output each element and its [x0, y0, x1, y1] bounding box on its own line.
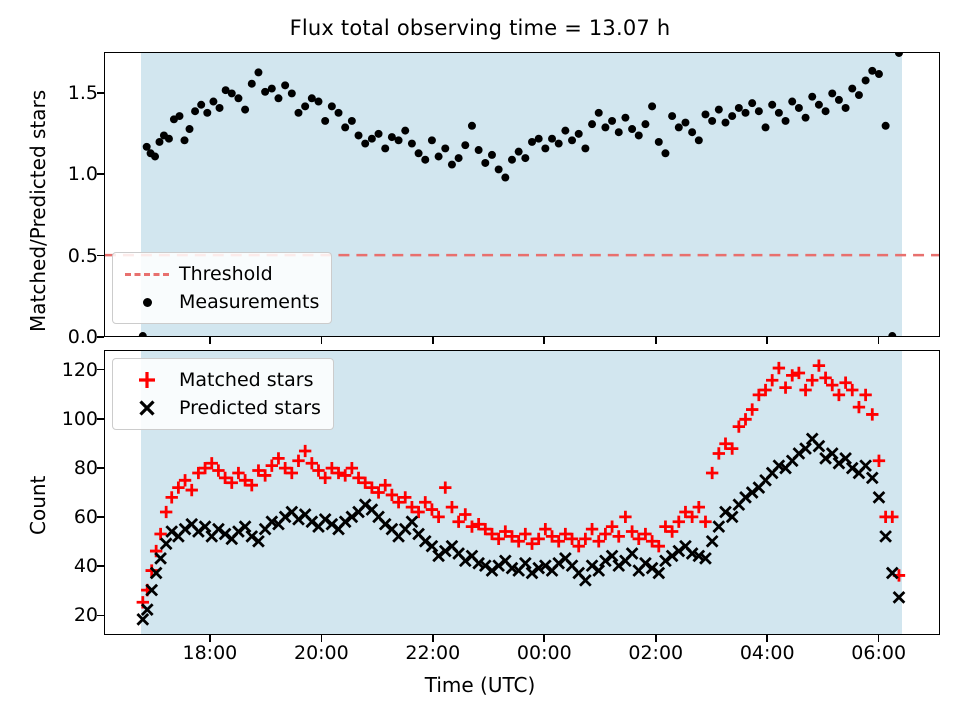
data-point	[521, 154, 529, 162]
data-point	[788, 98, 796, 106]
data-point	[839, 377, 851, 389]
data-point	[575, 130, 583, 138]
data-point	[775, 109, 783, 117]
data-point	[813, 359, 825, 371]
data-point	[519, 528, 531, 540]
x-tick-mark	[432, 337, 434, 344]
count-ytick: 100	[40, 408, 98, 430]
y-tick-mark	[97, 173, 104, 175]
data-point	[894, 592, 905, 603]
data-point	[421, 156, 429, 164]
data-point	[348, 117, 356, 125]
x-tick-mark	[543, 635, 545, 642]
data-point	[181, 136, 189, 144]
data-point	[176, 112, 184, 120]
data-point	[848, 85, 856, 93]
data-point	[254, 68, 262, 76]
data-point	[561, 127, 569, 135]
data-point	[312, 464, 324, 476]
data-point	[655, 138, 663, 146]
x-tick-mark	[878, 337, 880, 344]
data-point	[234, 94, 242, 102]
data-point	[253, 536, 264, 547]
data-point	[866, 408, 878, 420]
data-point	[814, 441, 825, 452]
x-tick-label: 06:00	[851, 642, 906, 664]
count-ytick: 120	[40, 359, 98, 381]
data-point	[539, 523, 551, 535]
data-point	[779, 381, 791, 393]
data-point	[200, 521, 211, 532]
data-point	[887, 568, 898, 579]
x-tick-mark	[878, 635, 880, 642]
data-point	[475, 146, 483, 154]
x-tick-label: 18:00	[183, 642, 238, 664]
data-point	[461, 141, 469, 149]
data-point	[688, 128, 696, 136]
data-point	[319, 472, 331, 484]
data-point	[580, 575, 591, 586]
data-point	[335, 109, 343, 117]
data-point	[339, 469, 351, 481]
y-tick-mark	[97, 255, 104, 257]
data-point	[274, 94, 282, 102]
data-point	[209, 98, 217, 106]
x-tick-mark	[655, 337, 657, 344]
data-point	[727, 512, 738, 523]
data-point	[713, 521, 724, 532]
data-point	[515, 148, 523, 156]
data-point	[151, 153, 159, 161]
count-legend: Matched stars Predicted stars	[112, 358, 334, 430]
data-point	[375, 130, 383, 138]
data-point	[733, 420, 745, 432]
data-point	[191, 107, 199, 115]
data-point	[161, 538, 172, 549]
data-point	[154, 528, 166, 540]
page-title: Flux total observing time = 13.07 h	[0, 16, 960, 40]
series-predicted-stars	[137, 433, 904, 624]
data-point	[579, 533, 591, 545]
x-tick-mark	[655, 635, 657, 642]
data-point	[628, 125, 636, 133]
data-point	[606, 520, 618, 532]
data-point	[452, 516, 464, 528]
data-point	[435, 153, 443, 161]
data-point	[508, 156, 516, 164]
data-point	[822, 107, 830, 115]
data-point	[368, 135, 376, 143]
data-point	[715, 106, 723, 114]
data-point	[328, 102, 336, 110]
data-point	[793, 367, 805, 379]
legend-label: Measurements	[179, 291, 319, 313]
y-tick-mark	[97, 467, 104, 469]
x-tick-mark	[321, 337, 323, 344]
count-ytick: 20	[40, 604, 98, 626]
data-point	[581, 144, 589, 152]
data-point	[426, 503, 438, 515]
x-tick-label: 20:00	[294, 642, 349, 664]
data-point	[626, 525, 638, 537]
x-tick-mark	[543, 337, 545, 344]
count-ytick: 40	[40, 555, 98, 577]
data-point	[782, 117, 790, 125]
data-point	[601, 123, 609, 131]
data-point	[706, 467, 718, 479]
data-point	[155, 553, 166, 564]
y-tick-mark	[97, 516, 104, 518]
data-point	[593, 565, 604, 576]
data-point	[321, 117, 329, 125]
data-point	[862, 77, 870, 85]
data-point	[599, 528, 611, 540]
data-point	[615, 128, 623, 136]
y-tick-mark	[97, 92, 104, 94]
x-tick-mark	[766, 635, 768, 642]
data-point	[842, 104, 850, 112]
y-tick-mark	[97, 615, 104, 617]
data-point	[165, 135, 173, 143]
data-point	[593, 535, 605, 547]
data-point	[799, 384, 811, 396]
data-point	[172, 481, 184, 493]
x-tick-mark	[321, 635, 323, 642]
data-point	[501, 174, 509, 182]
legend-item-threshold: Threshold	[123, 260, 319, 288]
data-point	[535, 135, 543, 143]
data-point	[595, 109, 603, 117]
data-point	[415, 149, 423, 157]
legend-item-measurements: Measurements	[123, 288, 319, 316]
legend-item-matched-stars: Matched stars	[123, 366, 321, 394]
data-point	[428, 136, 436, 144]
data-point	[707, 536, 718, 547]
data-point	[520, 558, 531, 569]
data-point	[746, 403, 758, 415]
data-point	[766, 374, 778, 386]
plus-marker-icon	[123, 368, 171, 392]
x-tick-label: 00:00	[517, 642, 572, 664]
figure-root: Flux total observing time = 13.07 h 0.0 …	[0, 0, 960, 720]
data-point	[573, 540, 585, 552]
data-point	[186, 125, 194, 133]
data-point	[240, 521, 251, 532]
data-point	[800, 443, 811, 454]
legend-label: Matched stars	[179, 369, 313, 391]
data-point	[272, 452, 284, 464]
data-point	[386, 489, 398, 501]
data-point	[819, 372, 831, 384]
data-point	[228, 89, 236, 97]
data-point	[197, 101, 205, 109]
data-point	[155, 138, 163, 146]
data-point	[139, 332, 147, 337]
data-point	[668, 112, 676, 120]
data-point	[419, 496, 431, 508]
data-point	[179, 474, 191, 486]
data-point	[248, 80, 256, 88]
data-point	[315, 98, 323, 106]
data-point	[773, 362, 785, 374]
data-point	[292, 455, 304, 467]
data-point	[407, 516, 418, 527]
data-point	[568, 136, 576, 144]
data-point	[608, 117, 616, 125]
data-point	[742, 109, 750, 117]
data-point	[853, 401, 865, 413]
data-point	[713, 447, 725, 459]
data-point	[203, 109, 211, 117]
data-point	[381, 144, 389, 152]
data-point	[379, 479, 391, 491]
data-point	[855, 91, 863, 99]
data-point	[675, 123, 683, 131]
data-point	[446, 501, 458, 513]
data-point	[627, 548, 638, 559]
data-point	[432, 511, 444, 523]
data-point	[815, 101, 823, 109]
data-point	[439, 481, 451, 493]
data-point	[355, 132, 363, 140]
data-point	[346, 462, 358, 474]
data-point	[294, 109, 302, 117]
data-point	[880, 531, 891, 542]
data-point	[693, 501, 705, 513]
data-point	[699, 516, 711, 528]
data-point	[739, 413, 751, 425]
data-point	[701, 110, 709, 118]
data-point	[886, 511, 898, 523]
data-point	[301, 102, 309, 110]
data-point	[441, 144, 449, 152]
data-point	[795, 104, 803, 112]
data-point	[846, 384, 858, 396]
data-point	[661, 149, 669, 157]
data-point	[681, 119, 689, 127]
data-point	[755, 107, 763, 115]
data-point	[212, 464, 224, 476]
data-point	[495, 165, 503, 173]
data-point	[840, 453, 851, 464]
data-point	[395, 136, 403, 144]
data-point	[160, 506, 172, 518]
data-point	[468, 122, 476, 130]
data-point	[768, 101, 776, 109]
data-point	[241, 106, 249, 114]
data-point	[216, 104, 224, 112]
data-point	[281, 81, 289, 89]
x-tick-label: 04:00	[740, 642, 795, 664]
data-point	[266, 460, 278, 472]
data-point	[341, 123, 349, 131]
data-point	[641, 120, 649, 128]
data-point	[488, 151, 496, 159]
data-point	[541, 144, 549, 152]
data-point	[735, 104, 743, 112]
x-tick-mark	[766, 337, 768, 344]
data-point	[166, 491, 178, 503]
data-point	[695, 136, 703, 144]
data-point	[588, 120, 596, 128]
x-tick-mark	[432, 635, 434, 642]
y-tick-mark	[97, 418, 104, 420]
data-point	[459, 508, 471, 520]
data-point	[232, 467, 244, 479]
x-tick-mark	[209, 337, 211, 344]
y-tick-mark	[97, 565, 104, 567]
data-point	[548, 135, 556, 143]
x-tick-mark	[209, 635, 211, 642]
data-point	[401, 127, 409, 135]
data-point	[728, 112, 736, 120]
data-point	[427, 541, 438, 552]
data-point	[762, 123, 770, 131]
data-point	[888, 332, 896, 337]
x-tick-label: 02:00	[628, 642, 683, 664]
x-tick-label: 22:00	[405, 642, 460, 664]
data-point	[828, 89, 836, 97]
data-point	[648, 102, 656, 110]
data-point	[827, 448, 838, 459]
data-point	[833, 389, 845, 401]
data-point	[786, 369, 798, 381]
count-axis-label: Count	[26, 476, 50, 535]
data-point	[882, 122, 890, 130]
data-point	[873, 455, 885, 467]
data-point	[859, 389, 871, 401]
data-point	[653, 568, 664, 579]
ratio-axis-label: Matched/Predicted stars	[26, 90, 50, 332]
y-tick-mark	[97, 369, 104, 371]
data-point	[268, 85, 276, 93]
data-point	[748, 99, 756, 107]
data-point	[481, 159, 489, 167]
y-tick-mark	[97, 336, 104, 338]
dashed-line-icon	[123, 262, 171, 286]
data-point	[466, 520, 478, 532]
data-point	[361, 140, 369, 148]
data-point	[299, 445, 311, 457]
legend-item-predicted-stars: Predicted stars	[123, 394, 321, 422]
data-point	[835, 96, 843, 104]
data-point	[806, 374, 818, 386]
data-point	[826, 379, 838, 391]
data-point	[802, 114, 810, 122]
data-point	[874, 492, 885, 503]
data-point	[408, 140, 416, 148]
legend-label: Threshold	[179, 263, 273, 285]
data-point	[635, 132, 643, 140]
data-point	[555, 140, 563, 148]
data-point	[808, 93, 816, 101]
data-point	[288, 89, 296, 97]
data-point	[673, 516, 685, 528]
data-point	[860, 460, 871, 471]
cross-marker-icon	[123, 396, 171, 420]
data-point	[306, 457, 318, 469]
data-point	[619, 511, 631, 523]
ratio-legend: Threshold Measurements	[112, 252, 332, 324]
data-point	[613, 530, 625, 542]
legend-label: Predicted stars	[179, 397, 321, 419]
data-point	[867, 472, 878, 483]
data-point	[722, 119, 730, 127]
data-point	[875, 70, 883, 78]
data-point	[586, 523, 598, 535]
data-point	[708, 117, 716, 125]
data-point	[895, 52, 903, 57]
data-point	[621, 114, 629, 122]
dot-marker-icon	[123, 290, 171, 314]
data-point	[607, 551, 618, 562]
data-point	[448, 161, 456, 169]
data-point	[455, 154, 463, 162]
x-axis-label: Time (UTC)	[0, 673, 960, 697]
data-point	[186, 484, 198, 496]
